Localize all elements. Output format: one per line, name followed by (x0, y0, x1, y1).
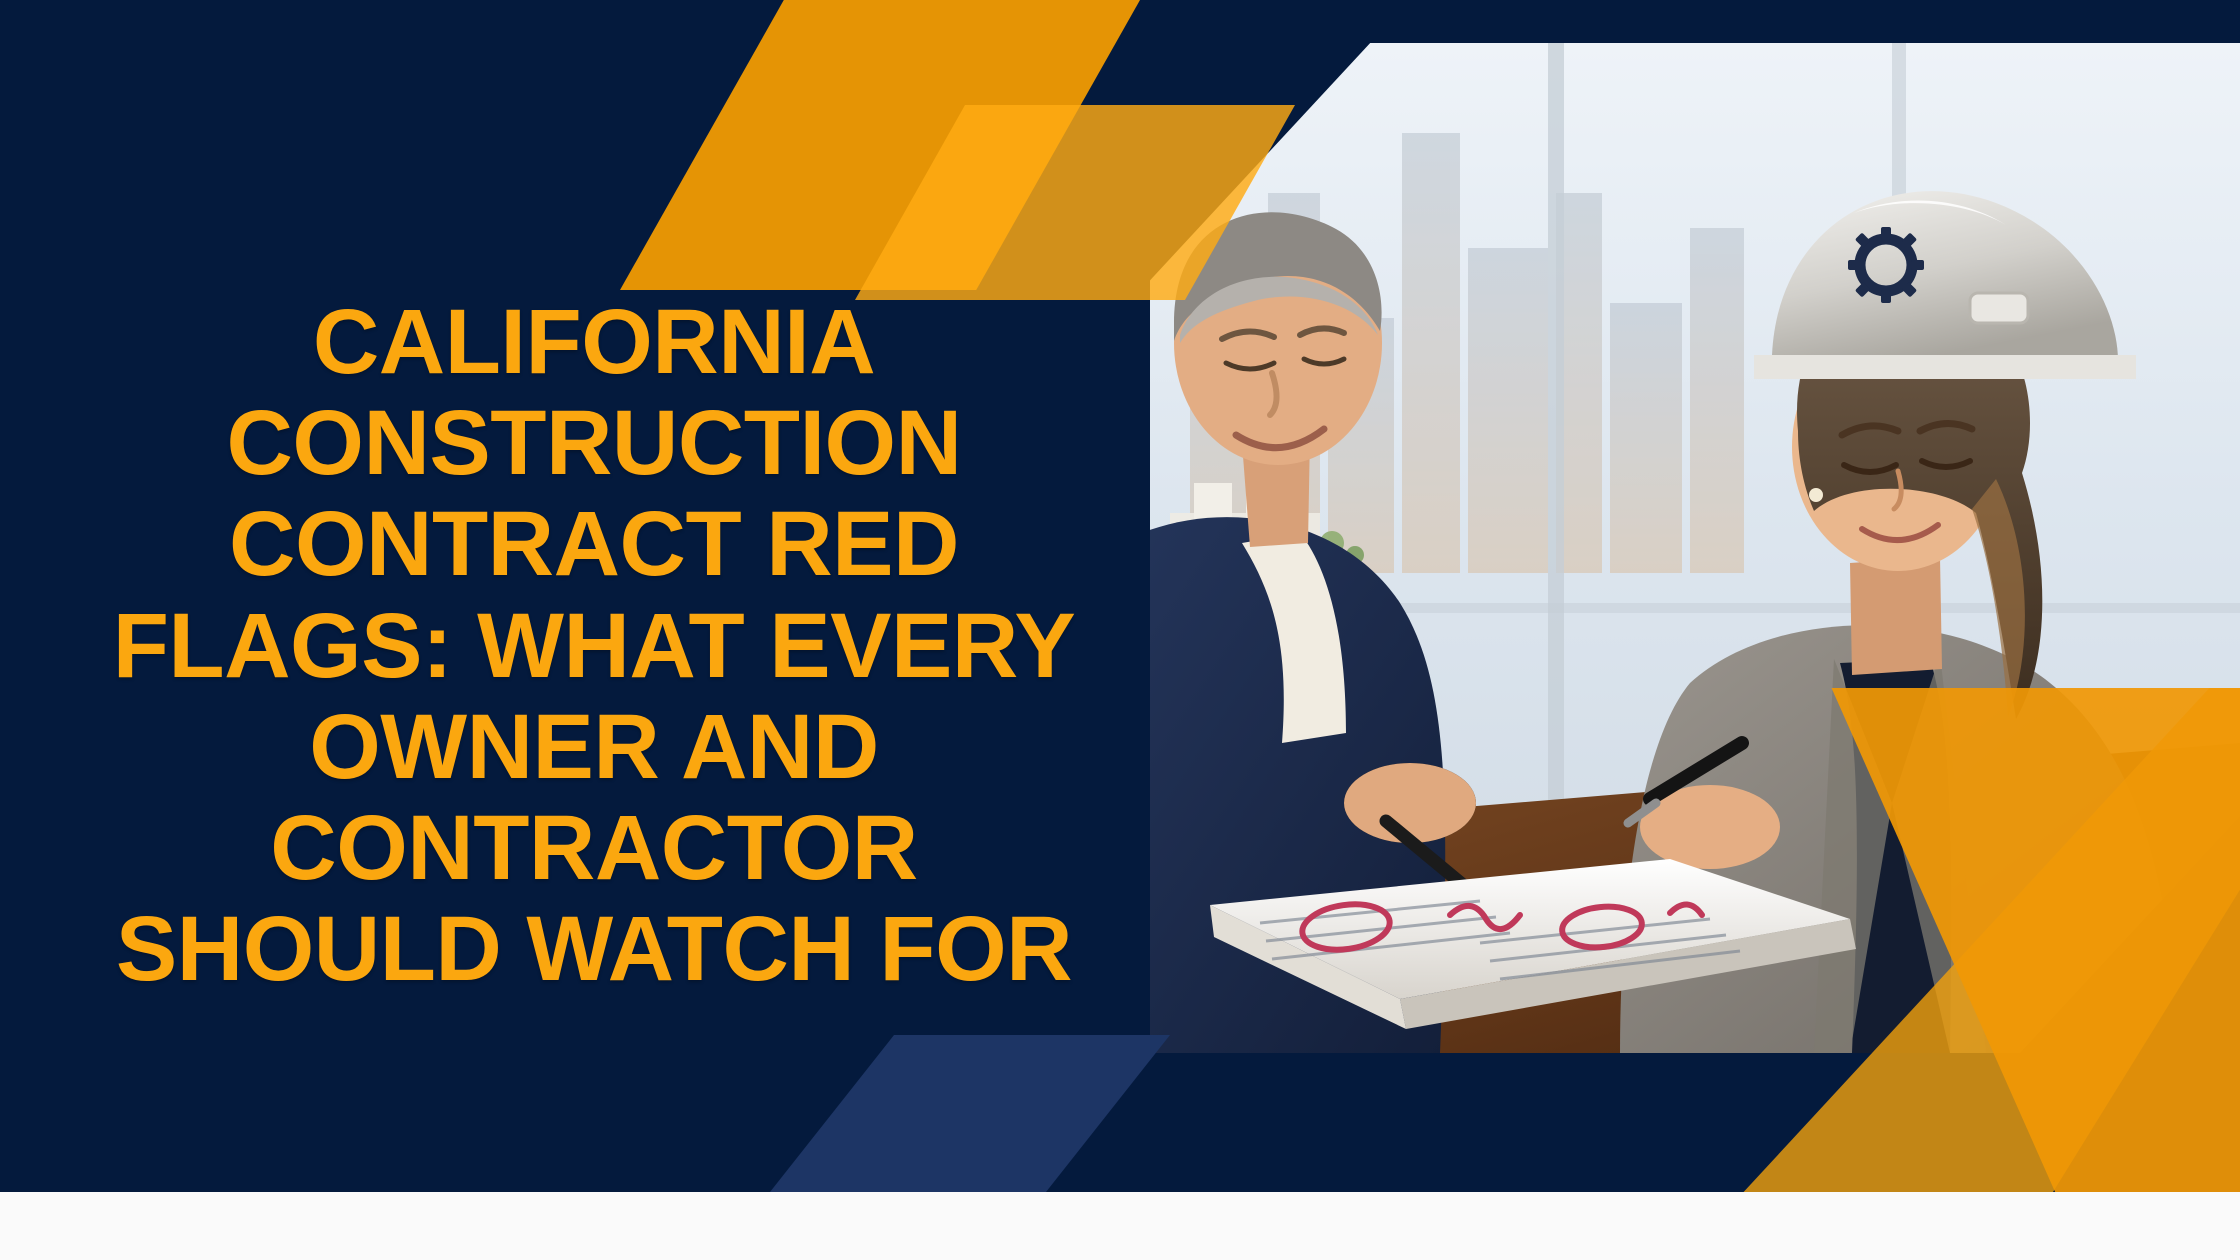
page-title: CALIFORNIA CONSTRUCTION CONTRACT RED FLA… (62, 292, 1126, 1000)
banner-canvas: CALIFORNIA CONSTRUCTION CONTRACT RED FLA… (0, 0, 2240, 1260)
bottom-white-strip (0, 1192, 2240, 1260)
